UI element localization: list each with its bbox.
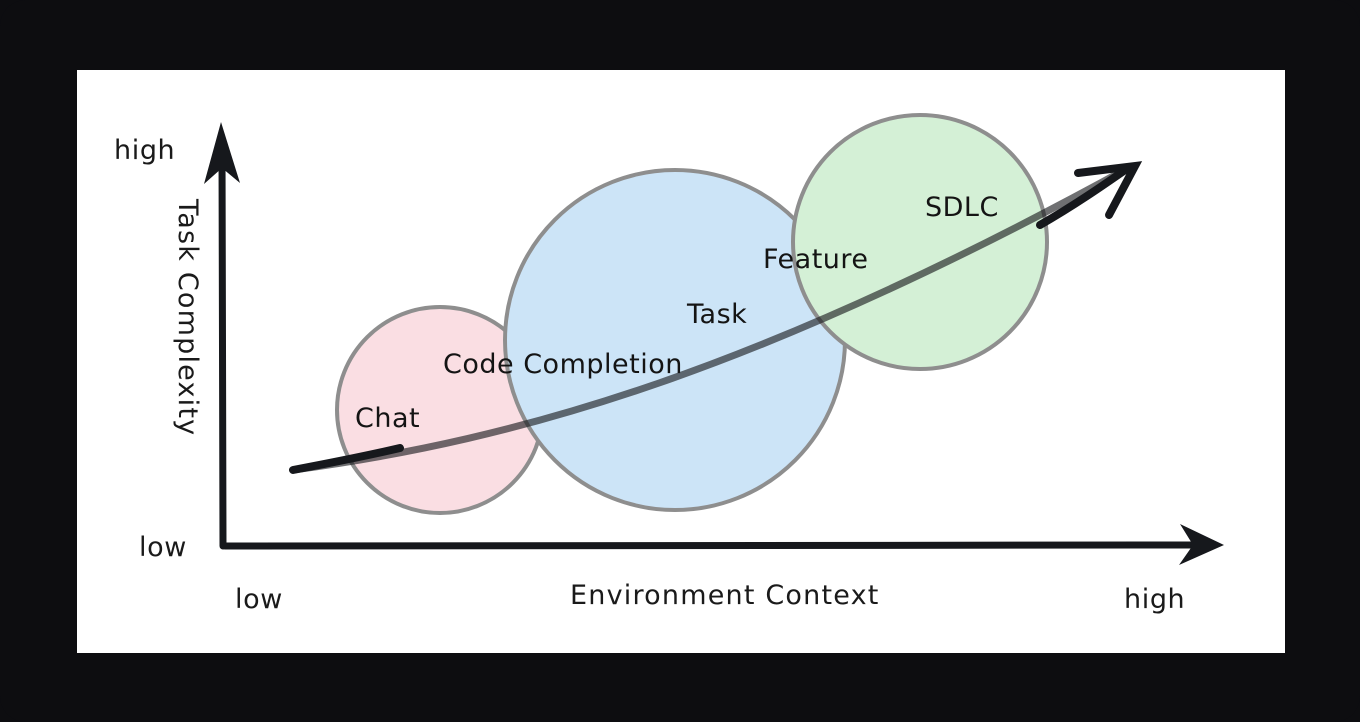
bubble-label-feature: Feature <box>763 244 869 275</box>
y-axis-high-label: high <box>114 135 175 166</box>
bubble-label-task: Task <box>686 299 747 330</box>
diagram-svg: high low Task Complexity low Environment… <box>0 0 1360 722</box>
x-axis-title: Environment Context <box>570 580 880 611</box>
y-axis-low-label: low <box>139 532 187 563</box>
y-axis-title: Task Complexity <box>172 198 203 436</box>
bubble-label-sdlc: SDLC <box>925 192 999 223</box>
x-axis-low-label: low <box>235 584 283 615</box>
bubble-sdlc[interactable] <box>793 115 1047 369</box>
y-axis <box>204 122 240 546</box>
diagram-frame: high low Task Complexity low Environment… <box>0 0 1360 722</box>
x-axis <box>225 524 1224 565</box>
bubble-label-chat: Chat <box>355 403 420 434</box>
bubble-label-code-completion: Code Completion <box>443 349 683 380</box>
x-axis-high-label: high <box>1124 584 1185 615</box>
